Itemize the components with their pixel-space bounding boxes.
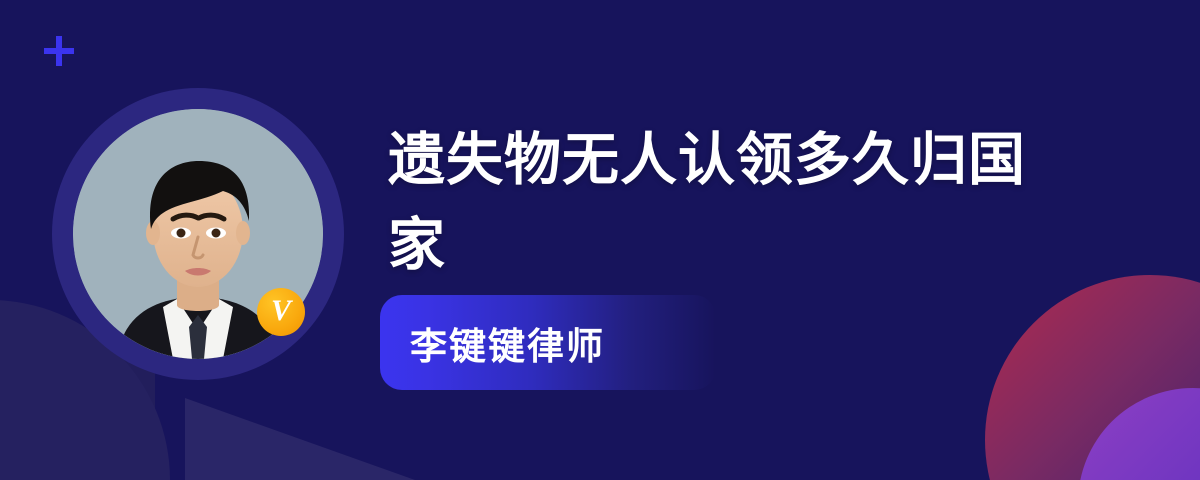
page-title: 遗失物无人认领多久归国 家 [388,118,1088,288]
decorative-triangle-shape [185,398,415,480]
lawyer-article-banner: V 遗失物无人认领多久归国 家 李键键律师 [0,0,1200,480]
lawyer-name-button[interactable]: 李键键律师 [380,295,716,390]
content-column: 遗失物无人认领多久归国 家 [388,118,1088,288]
verified-badge-icon: V [257,288,305,336]
plus-icon [44,36,74,66]
verified-badge-label: V [271,296,291,326]
avatar: V [52,88,344,380]
